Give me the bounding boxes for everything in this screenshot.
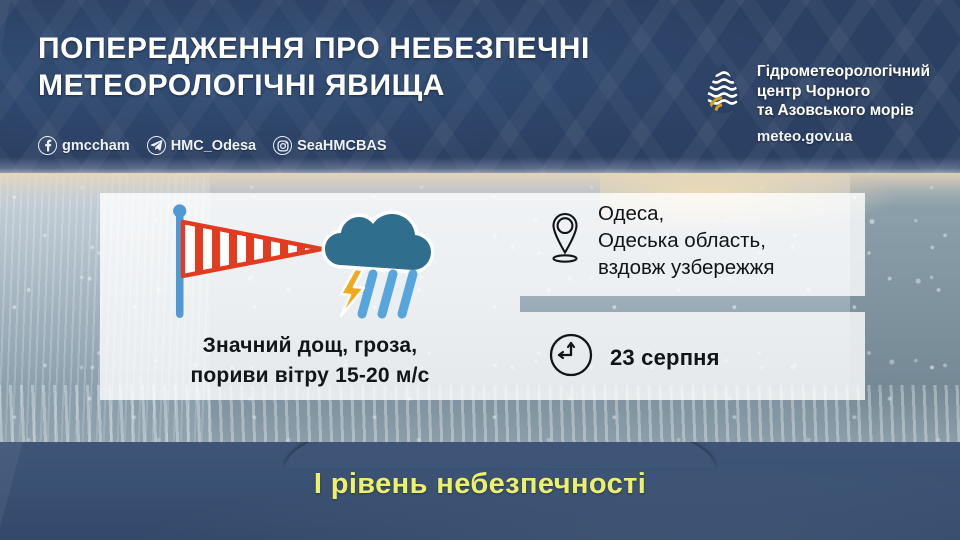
social-link-facebook[interactable]: gmccham [38,136,130,155]
location-line-1: Одеса, [598,200,774,227]
page-title-line-1: ПОПЕРЕДЖЕННЯ ПРО НЕБЕЗПЕЧНІ [38,30,668,67]
location-line-2: Одеська область, [598,227,774,254]
social-links: gmccham HMC_Odesa SeaH [38,136,387,155]
page-title: ПОПЕРЕДЖЕННЯ ПРО НЕБЕЗПЕЧНІ МЕТЕОРОЛОГІЧ… [38,30,668,104]
location-line-3: вздовж узбережжя [598,254,774,281]
date-info: 23 серпня [548,332,720,383]
location-info: Одеса, Одеська область, вздовж узбережжя [548,200,774,281]
weather-icon-group [100,196,520,321]
weather-description-line-1: Значний дощ, гроза, [100,331,520,361]
page-title-line-2: МЕТЕОРОЛОГІЧНІ ЯВИЩА [38,67,668,104]
facebook-icon [38,136,57,155]
location-pin-icon [548,211,582,270]
location-text: Одеса, Одеська область, вздовж узбережжя [598,200,774,281]
organization-name-line-3: та Азовського морів [757,102,914,119]
social-link-telegram[interactable]: HMC_Odesa [147,136,256,155]
social-handle-instagram: SeaHMCBAS [297,138,386,154]
weather-description-line-2: пориви вітру 15-20 м/с [100,361,520,391]
social-link-instagram[interactable]: SeaHMCBAS [273,136,386,155]
thunderstorm-cloud-rain-icon [325,214,431,316]
date-value: 23 серпня [610,345,720,371]
header-bottom-glow-decoration [0,157,960,173]
storm-warning-pennant-icon [173,204,322,318]
organization-name-line-2: центр Чорного [757,83,870,100]
organization-logo: Гідрометеорологічний центр Чорного та Аз… [700,62,930,146]
instagram-icon [273,136,292,155]
clock-icon [548,332,594,383]
droplet-waves-logo-icon [700,62,746,122]
social-handle-facebook: gmccham [62,138,130,154]
weather-description: Значний дощ, гроза, пориви вітру 15-20 м… [100,331,520,391]
organization-website[interactable]: meteo.gov.ua [757,127,930,147]
social-handle-telegram: HMC_Odesa [171,138,256,154]
organization-name-line-1: Гідрометеорологічний [757,63,930,80]
organization-name: Гідрометеорологічний центр Чорного та Аз… [757,62,930,146]
telegram-icon [147,136,166,155]
weather-warning-infographic: ПОПЕРЕДЖЕННЯ ПРО НЕБЕЗПЕЧНІ МЕТЕОРОЛОГІЧ… [0,0,960,540]
header-banner: ПОПЕРЕДЖЕННЯ ПРО НЕБЕЗПЕЧНІ МЕТЕОРОЛОГІЧ… [0,0,960,173]
danger-level-text: І рівень небезпечності [0,468,960,501]
